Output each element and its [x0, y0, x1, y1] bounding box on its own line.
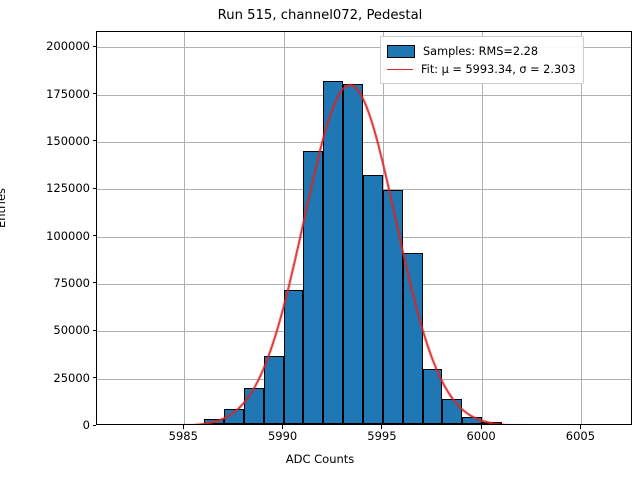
y-tick-label: 125000 — [0, 181, 90, 195]
y-tick-mark — [93, 330, 97, 331]
x-axis-label: ADC Counts — [0, 452, 640, 466]
y-tick-mark — [93, 93, 97, 94]
y-tick-label: 75000 — [0, 276, 90, 290]
x-tick-label: 6005 — [540, 429, 620, 443]
x-tick-label: 5995 — [342, 429, 422, 443]
figure: Run 515, channel072, Pedestal 5985599059… — [0, 0, 640, 480]
y-axis-label: Entries — [0, 188, 8, 228]
legend-swatch-samples — [387, 45, 415, 58]
legend-line-fit — [387, 69, 413, 70]
x-tick-mark — [381, 425, 382, 429]
x-tick-label: 6000 — [441, 429, 521, 443]
y-tick-mark — [93, 140, 97, 141]
y-tick-label: 200000 — [0, 39, 90, 53]
legend-label-samples: Samples: RMS=2.28 — [423, 45, 538, 58]
x-tick-mark — [282, 425, 283, 429]
y-tick-mark — [93, 377, 97, 378]
y-tick-label: 150000 — [0, 134, 90, 148]
y-tick-label: 100000 — [0, 229, 90, 243]
x-tick-label: 5985 — [143, 429, 223, 443]
x-tick-mark — [481, 425, 482, 429]
y-tick-mark — [93, 188, 97, 189]
legend-entry-samples: Samples: RMS=2.28 — [387, 42, 576, 60]
y-tick-mark — [93, 235, 97, 236]
y-tick-label: 25000 — [0, 371, 90, 385]
y-tick-mark — [93, 425, 97, 426]
y-tick-label: 50000 — [0, 323, 90, 337]
legend: Samples: RMS=2.28 Fit: μ = 5993.34, σ = … — [380, 36, 584, 84]
y-tick-label: 175000 — [0, 87, 90, 101]
x-tick-label: 5990 — [243, 429, 323, 443]
legend-label-fit: Fit: μ = 5993.34, σ = 2.303 — [421, 63, 576, 76]
plot-area — [96, 31, 632, 425]
y-tick-mark — [93, 46, 97, 47]
x-tick-mark — [183, 425, 184, 429]
x-tick-mark — [580, 425, 581, 429]
chart-title: Run 515, channel072, Pedestal — [0, 8, 640, 23]
y-tick-label: 0 — [0, 418, 90, 432]
gaussian-fit-curve — [97, 32, 632, 425]
legend-entry-fit: Fit: μ = 5993.34, σ = 2.303 — [387, 60, 576, 78]
y-tick-mark — [93, 282, 97, 283]
